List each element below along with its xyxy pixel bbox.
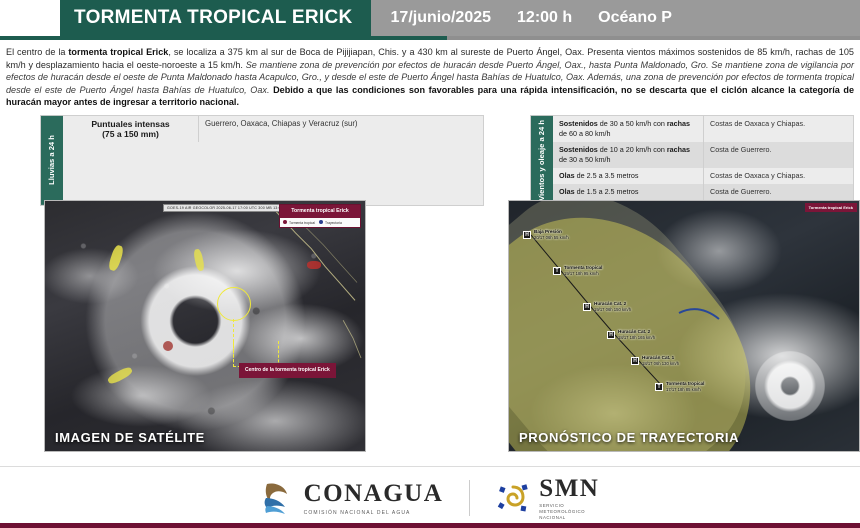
wave-desc-cell: Olas de 1.5 a 2.5 metros — [553, 184, 703, 200]
rain-intensity-range: (75 a 150 mm) — [69, 129, 192, 139]
table-row: Sostenidos de 10 a 20 km/h con rachas de… — [553, 142, 853, 168]
track-marker-icon: H — [607, 331, 615, 339]
storm-center-circle-marker — [217, 287, 251, 321]
track-point-name: Huracán Cat. 1 — [642, 355, 674, 360]
conagua-name: CONAGUA — [304, 480, 444, 508]
wave-region-cell: Costa de Guerrero. — [703, 184, 853, 200]
wave-label-rest: de 1.5 a 2.5 metros — [575, 187, 639, 196]
wind-label-bold2: rachas — [667, 119, 690, 128]
rain-table: Lluvias a 24 h Puntuales intensas (75 a … — [40, 115, 484, 206]
legend-item-1-label: Tormenta tropical — [289, 221, 315, 225]
conagua-eagle-water-icon — [261, 480, 295, 516]
table-row: Puntuales intensas (75 a 150 mm) Guerrer… — [63, 116, 483, 142]
wave-label-rest: de 2.5 a 3.5 metros — [575, 171, 639, 180]
satellite-panel-caption: IMAGEN DE SATÉLITE — [55, 430, 205, 445]
page-title: TORMENTA TROPICAL ERICK — [60, 0, 371, 36]
track-marker-icon: T — [655, 383, 663, 391]
track-point-label: Huracán Cat. 118/17 06h 130 km/h — [642, 355, 679, 366]
track-point-label: Tormenta tropical17/17 18h 85 km/h — [666, 381, 704, 392]
table-row: Olas de 1.5 a 2.5 metros Costa de Guerre… — [553, 184, 853, 200]
bulletin-line1-a: El centro de la — [6, 47, 68, 57]
wind-label-bold: Sostenidos — [559, 145, 598, 154]
footer-divider — [469, 480, 470, 516]
track-marker-icon: T — [553, 267, 561, 275]
wave-region-cell: Costas de Oaxaca y Chiapas. — [703, 168, 853, 184]
bulletin-page: TORMENTA TROPICAL ERICK 17/junio/2025 12… — [0, 0, 860, 528]
smn-text: SMN SERVICIO METEOROLÓGICO NACIONAL — [539, 475, 599, 521]
satellite-legend-title: Tormenta tropical Erick — [280, 205, 360, 218]
coastline-overlay — [45, 201, 365, 451]
rain-regions-cell: Guerrero, Oaxaca, Chiapas y Veracruz (su… — [198, 116, 483, 142]
track-point-label: Huracán Cat. 219/17 06h 150 km/h — [594, 301, 631, 312]
wind-label-rest2: de 30 a 50 km/h — [559, 155, 611, 164]
wave-label-bold: Olas — [559, 171, 575, 180]
satellite-legend-body: Tormenta tropical Trayectoria — [280, 218, 360, 227]
header-bar: TORMENTA TROPICAL ERICK 17/junio/2025 12… — [0, 0, 860, 36]
wind-label-bold: Sostenidos — [559, 119, 598, 128]
track-point-name: Baja Presión — [534, 229, 562, 234]
track-point-name: Huracán Cat. 2 — [594, 301, 626, 306]
track-point-label: Baja Presión20/17 06h 55 km/h — [534, 229, 569, 240]
footer-accent-bar — [0, 523, 860, 528]
track-point-detail: 17/17 18h 85 km/h — [666, 387, 704, 393]
track-point[interactable]: T Tormenta tropical17/17 18h 85 km/h — [655, 381, 704, 392]
wind-region-cell: Costas de Oaxaca y Chiapas. — [703, 116, 853, 142]
track-marker-icon: H — [523, 231, 531, 239]
conagua-logo-block: CONAGUA COMISIÓN NACIONAL DEL AGUA — [261, 480, 444, 516]
smn-subtitle-3: NACIONAL — [539, 515, 599, 521]
wind-label-rest2: de 60 a 80 km/h — [559, 129, 611, 138]
bulletin-storm-name: tormenta tropical Erick — [68, 47, 168, 57]
wind-desc-cell: Sostenidos de 10 a 20 km/h con rachas de… — [553, 142, 703, 168]
smn-name: SMN — [539, 475, 599, 503]
storm-center-callout: Centro de la tormenta tropical Erick — [239, 363, 336, 378]
satellite-legend: Tormenta tropical Erick Tormenta tropica… — [279, 204, 361, 228]
track-point[interactable]: H Huracán Cat. 118/17 06h 130 km/h — [631, 355, 679, 366]
wind-region-cell: Costa de Guerrero. — [703, 142, 853, 168]
track-point-name: Tormenta tropical — [564, 265, 602, 270]
legend-storm-icon: Tormenta tropical — [283, 220, 315, 225]
track-point-name: Huracán Cat. 2 — [618, 329, 650, 334]
header-left-spacer — [0, 0, 60, 36]
track-point-detail: 20/17 06h 55 km/h — [534, 235, 569, 241]
track-forecast-panel[interactable]: H Baja Presión20/17 06h 55 km/h T Tormen… — [508, 200, 860, 452]
bulletin-text: El centro de la tormenta tropical Erick,… — [0, 40, 860, 111]
smn-spiral-icon — [496, 481, 530, 515]
track-point-detail: 18/17 18h 165 km/h — [618, 335, 655, 341]
track-point[interactable]: H Huracán Cat. 218/17 18h 165 km/h — [607, 329, 655, 340]
rain-intensity-cell: Puntuales intensas (75 a 150 mm) — [63, 116, 198, 142]
track-point[interactable]: H Huracán Cat. 219/17 06h 150 km/h — [583, 301, 631, 312]
bulletin-time: 12:00 h — [517, 9, 572, 27]
header-meta: 17/junio/2025 12:00 h Océano P — [371, 0, 860, 36]
track-point-label: Tormenta tropical19/17 18h 95 km/h — [564, 265, 602, 276]
track-point-detail: 19/17 06h 150 km/h — [594, 307, 631, 313]
wave-desc-cell: Olas de 2.5 a 3.5 metros — [553, 168, 703, 184]
info-tables-row: Lluvias a 24 h Puntuales intensas (75 a … — [0, 111, 860, 206]
track-point-detail: 18/17 06h 130 km/h — [642, 361, 679, 367]
table-row: Olas de 2.5 a 3.5 metros Costas de Oaxac… — [553, 168, 853, 184]
track-marker-icon: H — [583, 303, 591, 311]
bulletin-region: Océano P — [598, 9, 672, 27]
wind-table-rows: Sostenidos de 30 a 50 km/h con rachas de… — [553, 116, 853, 205]
track-panel-caption: PRONÓSTICO DE TRAYECTORIA — [519, 430, 739, 445]
wind-label-bold2: rachas — [667, 145, 690, 154]
track-point[interactable]: H Baja Presión20/17 06h 55 km/h — [523, 229, 569, 240]
wind-label-rest: de 10 a 20 km/h con — [598, 145, 667, 154]
rain-intensity-title: Puntuales intensas — [69, 119, 192, 129]
table-row: Sostenidos de 30 a 50 km/h con rachas de… — [553, 116, 853, 142]
wave-label-bold: Olas — [559, 187, 575, 196]
satellite-image-panel[interactable]: GOES-19 AIR GEOCOLOR 2025-06-17 17:00 UT… — [44, 200, 366, 452]
track-marker-icon: H — [631, 357, 639, 365]
smn-logo-block: SMN SERVICIO METEOROLÓGICO NACIONAL — [496, 475, 599, 521]
track-point-name: Tormenta tropical — [666, 381, 704, 386]
wind-table: Vientos y oleaje a 24 h Sostenidos de 30… — [530, 115, 854, 206]
track-point-detail: 19/17 18h 95 km/h — [564, 271, 602, 277]
wind-label-rest: de 30 a 50 km/h con — [598, 119, 667, 128]
satellite-metadata-strip: GOES-19 AIR GEOCOLOR 2025-06-17 17:00 UT… — [163, 204, 294, 212]
track-point[interactable]: T Tormenta tropical19/17 18h 95 km/h — [553, 265, 602, 276]
conagua-text: CONAGUA COMISIÓN NACIONAL DEL AGUA — [304, 480, 444, 516]
rain-table-vertical-label: Lluvias a 24 h — [41, 116, 63, 205]
footer-logos: CONAGUA COMISIÓN NACIONAL DEL AGUA SMN S… — [0, 466, 860, 528]
legend-track-icon: Trayectoria — [319, 220, 342, 225]
wind-desc-cell: Sostenidos de 30 a 50 km/h con rachas de… — [553, 116, 703, 142]
track-point-label: Huracán Cat. 218/17 18h 165 km/h — [618, 329, 655, 340]
legend-item-2-label: Trayectoria — [325, 221, 342, 225]
wind-table-vertical-label: Vientos y oleaje a 24 h — [531, 116, 553, 205]
conagua-subtitle: COMISIÓN NACIONAL DEL AGUA — [304, 510, 444, 516]
rain-table-rows: Puntuales intensas (75 a 150 mm) Guerrer… — [63, 116, 483, 205]
bulletin-date: 17/junio/2025 — [391, 9, 492, 27]
track-legend-badge: Tormenta tropical Erick — [805, 203, 857, 212]
